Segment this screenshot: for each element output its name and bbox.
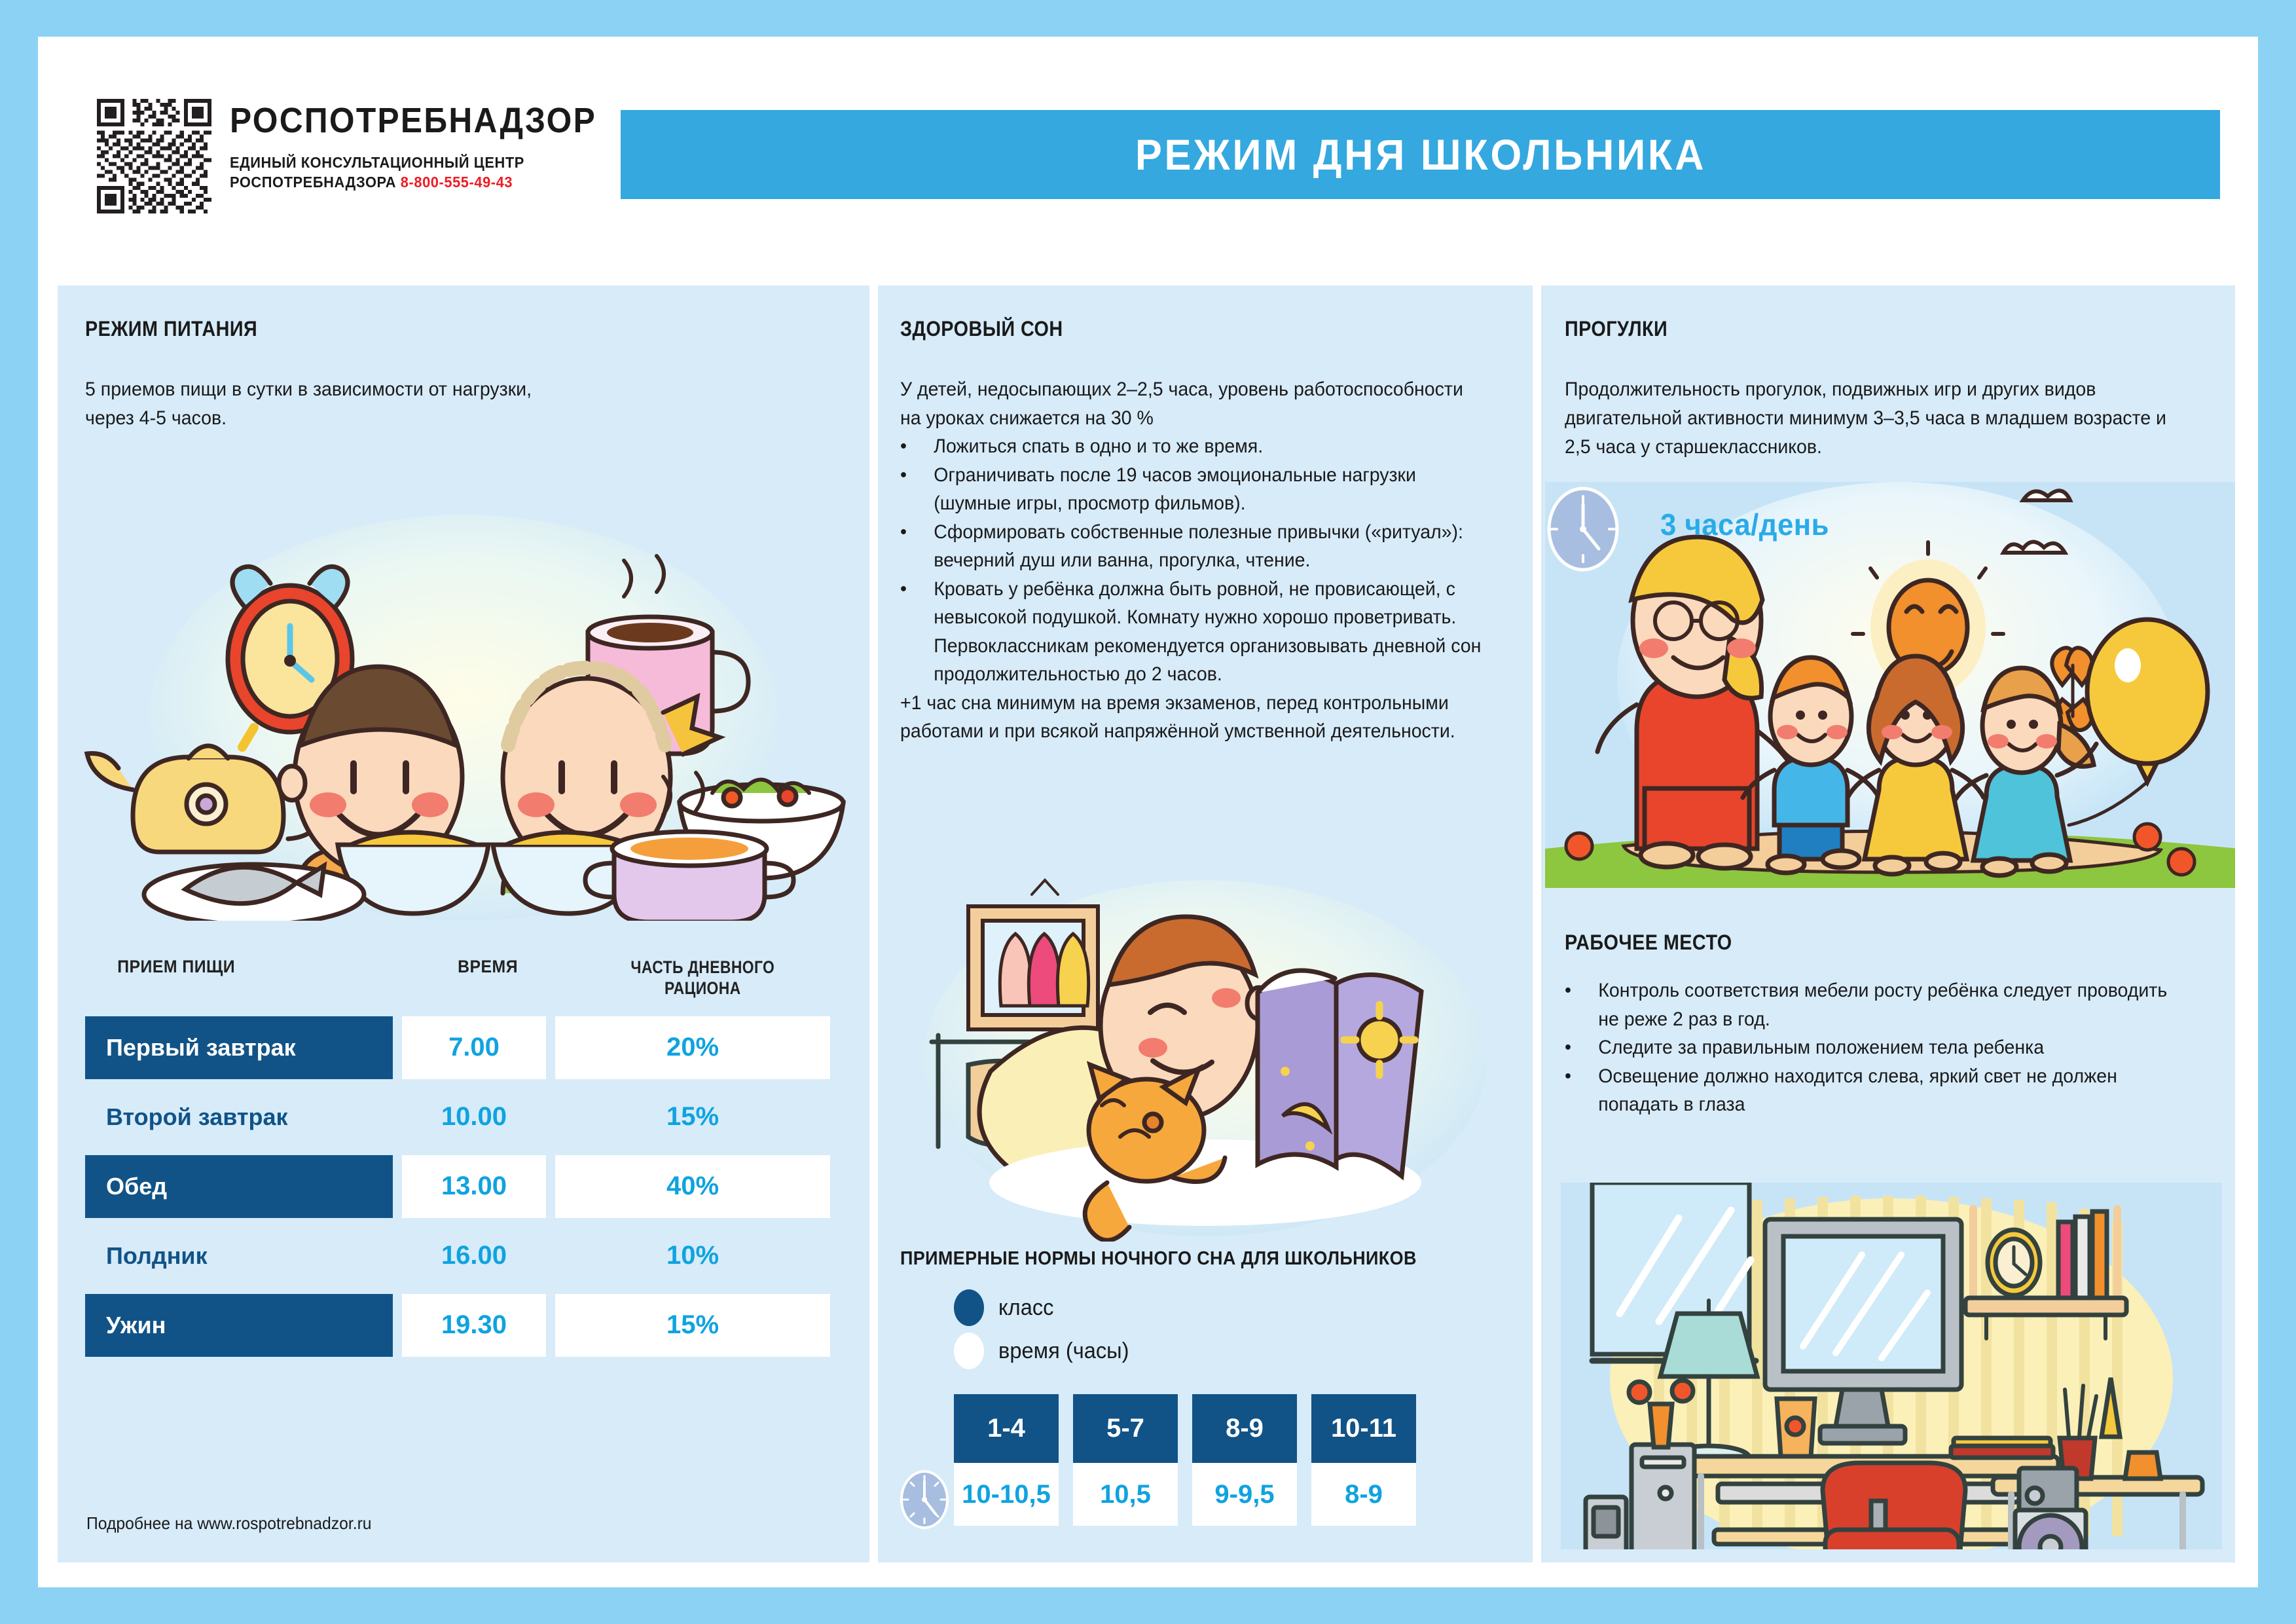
poster-header: РОСПОТРЕБНАДЗОР ЕДИНЫЙ КОНСУЛЬТАЦИОННЫЙ … <box>38 37 2258 246</box>
nutrition-intro-block: РЕЖИМ ПИТАНИЯ 5 приемов пищи в сутки в з… <box>85 317 846 433</box>
sleep-norm-column: 10-11 8-9 <box>1311 1394 1416 1526</box>
list-item: • Сформировать собственные полезные прив… <box>900 518 1482 575</box>
meal-time: 7.00 <box>402 1016 546 1079</box>
meal-part: 20% <box>555 1016 830 1079</box>
col-header-part: ЧАСТЬ ДНЕВНОГО РАЦИОНА <box>579 957 828 999</box>
meal-time: 19.30 <box>402 1294 546 1357</box>
walks-intro-block: ПРОГУЛКИ Продолжительность прогулок, под… <box>1565 317 2214 462</box>
boy-reading-in-bed-illustration <box>891 875 1520 1242</box>
bullet-icon: • <box>1565 1062 1598 1119</box>
sleep-norms-grid: 1-4 10-10,5 5-7 10,5 8-9 9-9,5 10-11 8-9 <box>900 1394 1516 1526</box>
list-item: • Ограничивать после 19 часов эмоциональ… <box>900 461 1482 518</box>
sleep-bullet-3: Сформировать собственные полезные привыч… <box>934 518 1482 575</box>
sleep-hours: 9-9,5 <box>1192 1463 1297 1526</box>
class-range: 1-4 <box>954 1394 1059 1463</box>
meal-time: 10.00 <box>402 1086 546 1149</box>
sleep-bullet-1: Ложиться спать в одно и то же время. <box>934 432 1263 461</box>
content-columns: РЕЖИМ ПИТАНИЯ 5 приемов пищи в сутки в з… <box>58 286 2238 1562</box>
speaker-icon <box>2015 1468 2086 1549</box>
sleep-hours: 8-9 <box>1311 1463 1416 1526</box>
panel-walks-workplace: ПРОГУЛКИ Продолжительность прогулок, под… <box>1541 286 2235 1562</box>
meal-name: Ужин <box>85 1294 393 1357</box>
sleep-closing-note: +1 час сна минимум на время экзаменов, п… <box>900 689 1482 746</box>
panel-nutrition: РЕЖИМ ПИТАНИЯ 5 приемов пищи в сутки в з… <box>58 286 869 1562</box>
class-range: 8-9 <box>1192 1394 1297 1463</box>
bullet-icon: • <box>1565 976 1598 1033</box>
section-title-walks: ПРОГУЛКИ <box>1565 317 2149 341</box>
poster-sheet: РОСПОТРЕБНАДЗОР ЕДИНЫЙ КОНСУЛЬТАЦИОННЫЙ … <box>38 37 2258 1587</box>
list-item: • Следите за правильным положением тела … <box>1565 1033 2181 1062</box>
panel-sleep: ЗДОРОВЫЙ СОН У детей, недосыпающих 2–2,5… <box>878 286 1533 1562</box>
meal-name: Полдник <box>85 1225 393 1287</box>
section-title-sleep: ЗДОРОВЫЙ СОН <box>900 317 1451 341</box>
list-item: • Освещение должно находится слева, ярки… <box>1565 1062 2181 1119</box>
sleep-intro-line2: на уроках снижается на 30 % <box>900 404 1482 433</box>
open-book-icon <box>1258 970 1421 1176</box>
nutrition-intro-text: 5 приемов пищи в сутки в зависимости от … <box>85 375 808 433</box>
meal-table-header: ПРИЕМ ПИЩИ ВРЕМЯ ЧАСТЬ ДНЕВНОГО РАЦИОНА <box>85 957 838 1016</box>
nutrition-intro-line1: 5 приемов пищи в сутки в зависимости от … <box>85 375 808 404</box>
meal-name: Обед <box>85 1155 393 1218</box>
legend-entry-hours: время (часы) <box>954 1333 1516 1369</box>
col-header-meal: ПРИЕМ ПИЩИ <box>98 957 395 977</box>
fish-plate-icon <box>144 864 364 921</box>
hotline-phone: 8-800-555-49-43 <box>401 174 513 191</box>
col-header-time: ВРЕМЯ <box>423 957 553 977</box>
clock-icon <box>900 1469 949 1530</box>
rospotrebnadzor-logo: РОСПОТРЕБНАДЗОР ЕДИНЫЙ КОНСУЛЬТАЦИОННЫЙ … <box>97 99 629 213</box>
section-title-nutrition: РЕЖИМ ПИТАНИЯ <box>85 317 770 341</box>
desk-workspace-illustration <box>1561 1183 2222 1549</box>
workplace-text: • Контроль соответствия мебели росту реб… <box>1565 976 2181 1119</box>
list-item: • Контроль соответствия мебели росту реб… <box>1565 976 2181 1033</box>
meal-name: Первый завтрак <box>85 1016 393 1079</box>
list-item: • Кровать у ребёнка должна быть ровной, … <box>900 575 1482 689</box>
bullet-icon: • <box>900 575 934 689</box>
more-info-link[interactable]: Подробнее на www.rospotrebnadzor.ru <box>86 1513 372 1534</box>
qr-code-icon <box>97 99 211 213</box>
sleep-norm-column: 1-4 10-10,5 <box>954 1394 1059 1526</box>
meal-part: 15% <box>555 1086 830 1149</box>
meal-name: Второй завтрак <box>85 1086 393 1149</box>
workplace-bullet-1: Контроль соответствия мебели росту ребён… <box>1598 976 2181 1033</box>
section-title-workplace: РАБОЧЕЕ МЕСТО <box>1565 931 1732 955</box>
walking-children-illustration <box>1545 482 2235 888</box>
class-range: 5-7 <box>1073 1394 1178 1463</box>
meal-part: 40% <box>555 1155 830 1218</box>
legend-marker-white-icon <box>954 1333 984 1369</box>
kids-eating-illustration <box>71 502 856 921</box>
sleep-table-legend: класс время (часы) <box>900 1289 1516 1369</box>
workplace-bullet-2: Следите за правильным положением тела ре… <box>1598 1033 2044 1062</box>
meal-part: 15% <box>555 1294 830 1357</box>
table-row: Полдник 16.00 10% <box>85 1225 838 1287</box>
legend-marker-navy-icon <box>954 1289 984 1326</box>
workplace-bullet-3: Освещение должно находится слева, яркий … <box>1598 1062 2181 1119</box>
list-item: • Ложиться спать в одно и то же время. <box>900 432 1482 461</box>
sleep-intro-text: У детей, недосыпающих 2–2,5 часа, уровен… <box>900 375 1482 746</box>
books-icon <box>1951 1438 2053 1458</box>
bullet-icon: • <box>1565 1033 1598 1062</box>
bullet-icon: • <box>900 432 934 461</box>
meal-time: 13.00 <box>402 1155 546 1218</box>
org-name: РОСПОТРЕБНАДЗОР <box>230 103 596 138</box>
sleep-intro-line1: У детей, недосыпающих 2–2,5 часа, уровен… <box>900 375 1482 404</box>
meal-part: 10% <box>555 1225 830 1287</box>
org-subtitle-line1: ЕДИНЫЙ КОНСУЛЬТАЦИОННЫЙ ЦЕНТР <box>230 153 608 172</box>
wall-clock-icon <box>1549 489 1617 570</box>
poster-title-banner: РЕЖИМ ДНЯ ШКОЛЬНИКА <box>621 110 2220 199</box>
bullet-icon: • <box>900 518 934 575</box>
walk-duration-badge: 3 часа/день <box>1660 507 1829 542</box>
sleep-table-title: ПРИМЕРНЫЕ НОРМЫ НОЧНОГО СНА ДЛЯ ШКОЛЬНИК… <box>900 1248 1472 1270</box>
sleep-bullet-4: Кровать у ребёнка должна быть ровной, не… <box>934 575 1482 689</box>
walks-intro-text: Продолжительность прогулок, подвижных иг… <box>1565 375 2181 462</box>
office-chair-icon <box>1823 1463 1965 1549</box>
sleep-intro-block: ЗДОРОВЫЙ СОН У детей, недосыпающих 2–2,5… <box>900 317 1513 746</box>
org-subtitle: ЕДИНЫЙ КОНСУЛЬТАЦИОННЫЙ ЦЕНТР РОСПОТРЕБН… <box>230 153 608 193</box>
sleep-bullet-2: Ограничивать после 19 часов эмоциональны… <box>934 461 1482 518</box>
table-row: Обед 13.00 40% <box>85 1155 838 1218</box>
sleep-norm-column: 5-7 10,5 <box>1073 1394 1178 1526</box>
logo-text-block: РОСПОТРЕБНАДЗОР ЕДИНЫЙ КОНСУЛЬТАЦИОННЫЙ … <box>230 99 629 193</box>
table-row: Первый завтрак 7.00 20% <box>85 1016 838 1079</box>
meal-schedule-table: ПРИЕМ ПИЩИ ВРЕМЯ ЧАСТЬ ДНЕВНОГО РАЦИОНА … <box>85 957 838 1363</box>
nutrition-intro-line2: через 4-5 часов. <box>85 404 808 433</box>
org-subtitle-line2: РОСПОТРЕБНАДЗОРА 8-800-555-49-43 <box>230 172 608 192</box>
bullet-icon: • <box>900 461 934 518</box>
sleep-hours: 10-10,5 <box>954 1463 1059 1526</box>
desk-mug-icon <box>1777 1399 1815 1456</box>
sleep-norm-column: 8-9 9-9,5 <box>1192 1394 1297 1526</box>
meal-time: 16.00 <box>402 1225 546 1287</box>
legend-entry-class: класс <box>954 1289 1516 1326</box>
sleep-norms-table: ПРИМЕРНЫЕ НОРМЫ НОЧНОГО СНА ДЛЯ ШКОЛЬНИК… <box>900 1248 1516 1526</box>
class-range: 10-11 <box>1311 1394 1416 1463</box>
table-row: Второй завтрак 10.00 15% <box>85 1086 838 1149</box>
page-title: РЕЖИМ ДНЯ ШКОЛЬНИКА <box>1135 130 1705 179</box>
sleep-hours: 10,5 <box>1073 1463 1178 1526</box>
table-row: Ужин 19.30 15% <box>85 1294 838 1357</box>
